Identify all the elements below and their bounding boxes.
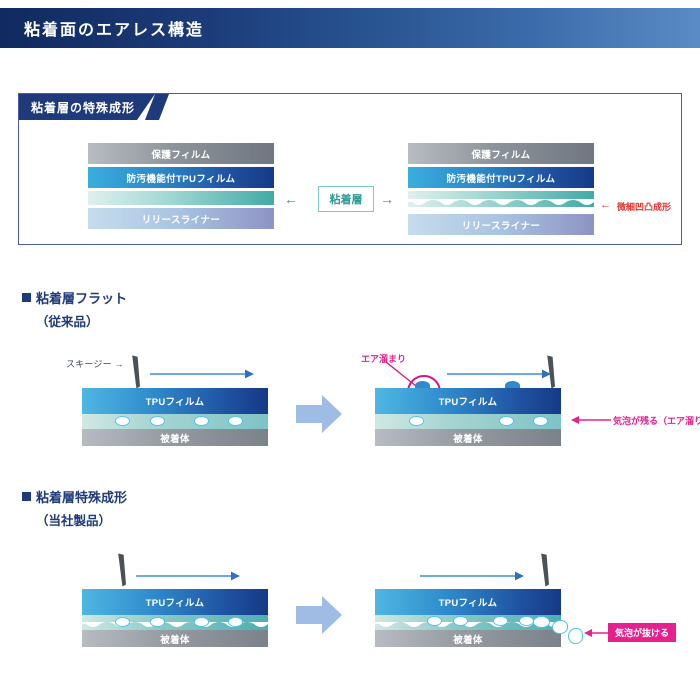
adhesive-layer-callout: 粘着層 [318,186,374,212]
ridge-label: 微細凹凸成形 [617,200,671,213]
bubbles-remain-label: 気泡が残る（エア溜り） [613,414,700,427]
tpu-film-band: TPUフィルム [82,388,268,414]
layer-tpu-film: 防汚機能付TPUフィルム [88,167,274,188]
bullet-square-icon [22,293,31,302]
callout-arrow-left: ← [284,192,298,206]
air-bubble [228,416,243,426]
section-subheading-flat: （従来品） [36,311,99,330]
air-bubble [150,617,165,627]
diagram-page: 粘着面のエアレス構造 粘着層の特殊成形 保護フィルム 防汚機能付TPUフィルム … [0,0,700,700]
bubbles-escape-badge: 気泡が抜ける [608,623,676,642]
section-heading-flat-text: 粘着層フラット [36,291,127,306]
callout-arrow-right: → [380,192,394,206]
specimen-flat-after: TPUフィルム 被着体 [375,388,561,446]
layer-stack-conventional: 保護フィルム 防汚機能付TPUフィルム リリースライナー [88,143,274,232]
air-bubble [427,616,442,626]
air-bubble [115,617,130,627]
air-bubble [499,416,514,426]
air-bubble [493,616,508,626]
substrate-band: 被着体 [375,630,561,647]
section-heading-textured: 粘着層特殊成形 [22,487,127,506]
flow-direction-arrow [447,368,551,380]
bullet-square-icon [22,492,31,501]
tpu-film-band: TPUフィルム [82,589,268,615]
specimen-flat-before: TPUフィルム 被着体 [82,388,268,446]
bubbles-escape-leader-line [584,628,610,638]
layer-adhesive-textured [408,191,594,207]
layer-release-liner: リリースライナー [408,214,594,235]
escaping-bubble [533,616,550,628]
section-subheading-textured: （当社製品） [36,510,111,529]
flow-direction-arrow [136,570,240,582]
bubbles-remain-leader-line [571,415,611,425]
squeegee-icon [546,355,556,389]
layer-protective-film: 保護フィルム [408,143,594,164]
squeegee-icon [131,355,141,389]
air-bubble [194,416,209,426]
ridge-pointer-arrow: ← [600,200,611,211]
layer-tpu-film: 防汚機能付TPUフィルム [408,167,594,188]
page-title: 粘着面のエアレス構造 [24,16,204,40]
squeegee-label: スキージー → [66,357,124,370]
air-bubble [409,416,424,426]
section-heading-flat: 粘着層フラット [22,288,127,307]
specimen-textured-before: TPUフィルム 被着体 [82,589,268,647]
layer-adhesive-flat [88,191,274,205]
substrate-band: 被着体 [82,429,268,446]
substrate-band: 被着体 [375,429,561,446]
tpu-film-band: TPUフィルム [375,589,561,615]
wave-edge-icon [408,199,594,208]
layer-stack-textured: 保護フィルム 防汚機能付TPUフィルム リリースライナー [408,143,594,238]
panel-title-badge: 粘着層の特殊成形 [19,94,169,120]
air-bubble [519,616,534,626]
flow-direction-arrow [150,368,254,380]
specimen-textured-after: TPUフィルム 被着体 [375,589,561,647]
transition-arrow [296,595,342,635]
layer-protective-film: 保護フィルム [88,143,274,164]
section-heading-textured-text: 粘着層特殊成形 [36,490,127,505]
substrate-band: 被着体 [82,630,268,647]
layer-release-liner: リリースライナー [88,208,274,229]
squeegee-icon [117,553,127,587]
flow-direction-arrow [420,570,524,582]
page-header: 粘着面のエアレス構造 [0,8,700,48]
air-bubble [194,617,209,627]
air-bubble [228,617,243,627]
escaping-bubble [552,620,568,634]
air-bubble [150,416,165,426]
air-bubble [453,616,468,626]
tpu-film-band: TPUフィルム [375,388,561,414]
transition-arrow [296,394,342,434]
air-bubble [533,416,548,426]
escaping-bubble [568,628,583,644]
squeegee-icon [540,553,550,587]
air-bubble [115,416,130,426]
